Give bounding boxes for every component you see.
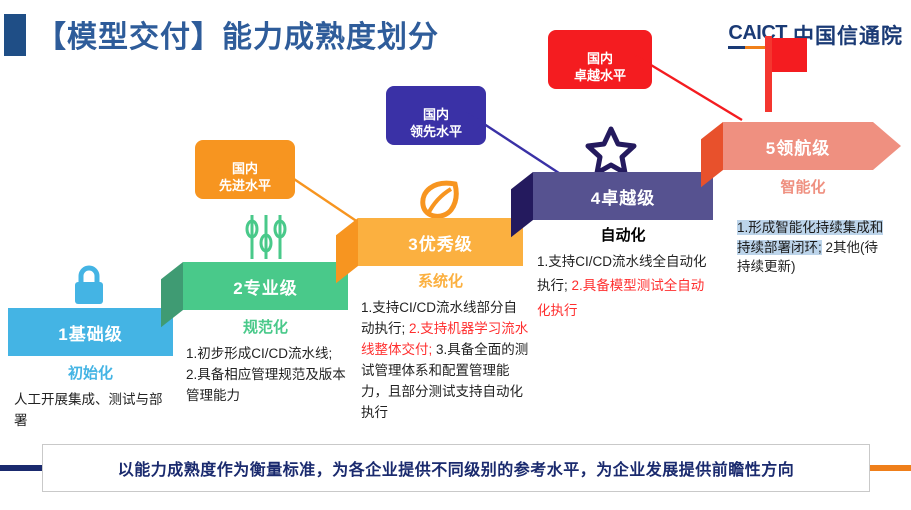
step-level1-desc: 人工开展集成、测试与部署 [14, 390, 164, 432]
step-level3[interactable]: 3优秀级 [358, 218, 523, 266]
bottom-banner-wrapper: 以能力成熟度作为衡量标准，为各企业提供不同级别的参考水平，为企业发展提供前瞻性方… [0, 444, 911, 492]
step-level4-desc: 1.支持CI/CD流水线全自动化执行; 2.具备模型测试全自动化执行 [537, 250, 715, 323]
step-level4-subtitle: 自动化 [533, 224, 713, 245]
step-level3-label: 3优秀级 [408, 230, 472, 255]
step-level5-desc: 1.形成智能化持续集成和持续部署闭环; 2其他(待持续更新) [737, 218, 889, 277]
step-level2-desc: 1.初步形成CI/CD流水线; 2.具备相应管理规范及版本管理能力 [186, 344, 356, 407]
step-level5-label: 5领航级 [766, 134, 830, 159]
bottom-banner: 以能力成熟度作为衡量标准，为各企业提供不同级别的参考水平，为企业发展提供前瞻性方… [42, 444, 870, 492]
step-level1[interactable]: 1基础级 [8, 308, 173, 356]
step-level2-subtitle: 规范化 [183, 316, 348, 337]
step-level5-side [701, 122, 723, 187]
step-level4[interactable]: 4卓越级 [533, 172, 713, 220]
slide-root: 【模型交付】能力成熟度划分 CAICT 中国信通院 国内 先进水平 [0, 0, 911, 510]
step-level3-desc: 1.支持CI/CD流水线部分自动执行; 2.支持机器学习流水线整体交付; 3.具… [361, 298, 529, 424]
step-level4-side [511, 172, 533, 237]
step-level4-label: 4卓越级 [591, 184, 655, 209]
step-level2-side [161, 262, 183, 327]
bottom-banner-text: 以能力成熟度作为衡量标准，为各企业提供不同级别的参考水平，为企业发展提供前瞻性方… [118, 456, 795, 480]
step-level2[interactable]: 2专业级 [183, 262, 348, 310]
step-level5-arrowhead-icon [873, 122, 901, 170]
step-level3-subtitle: 系统化 [358, 270, 523, 291]
step-level1-subtitle: 初始化 [8, 362, 173, 383]
step-level3-side [336, 218, 358, 283]
step-level5-subtitle: 智能化 [723, 176, 883, 197]
step-level5[interactable]: 5领航级 [723, 122, 901, 170]
step-level1-label: 1基础级 [58, 320, 122, 345]
maturity-staircase: 1基础级 初始化 人工开展集成、测试与部署 2专业级 规范化 1.初步形成CI/… [0, 0, 911, 460]
step-level5-body: 5领航级 [723, 122, 873, 170]
step-level2-label: 2专业级 [233, 274, 297, 299]
